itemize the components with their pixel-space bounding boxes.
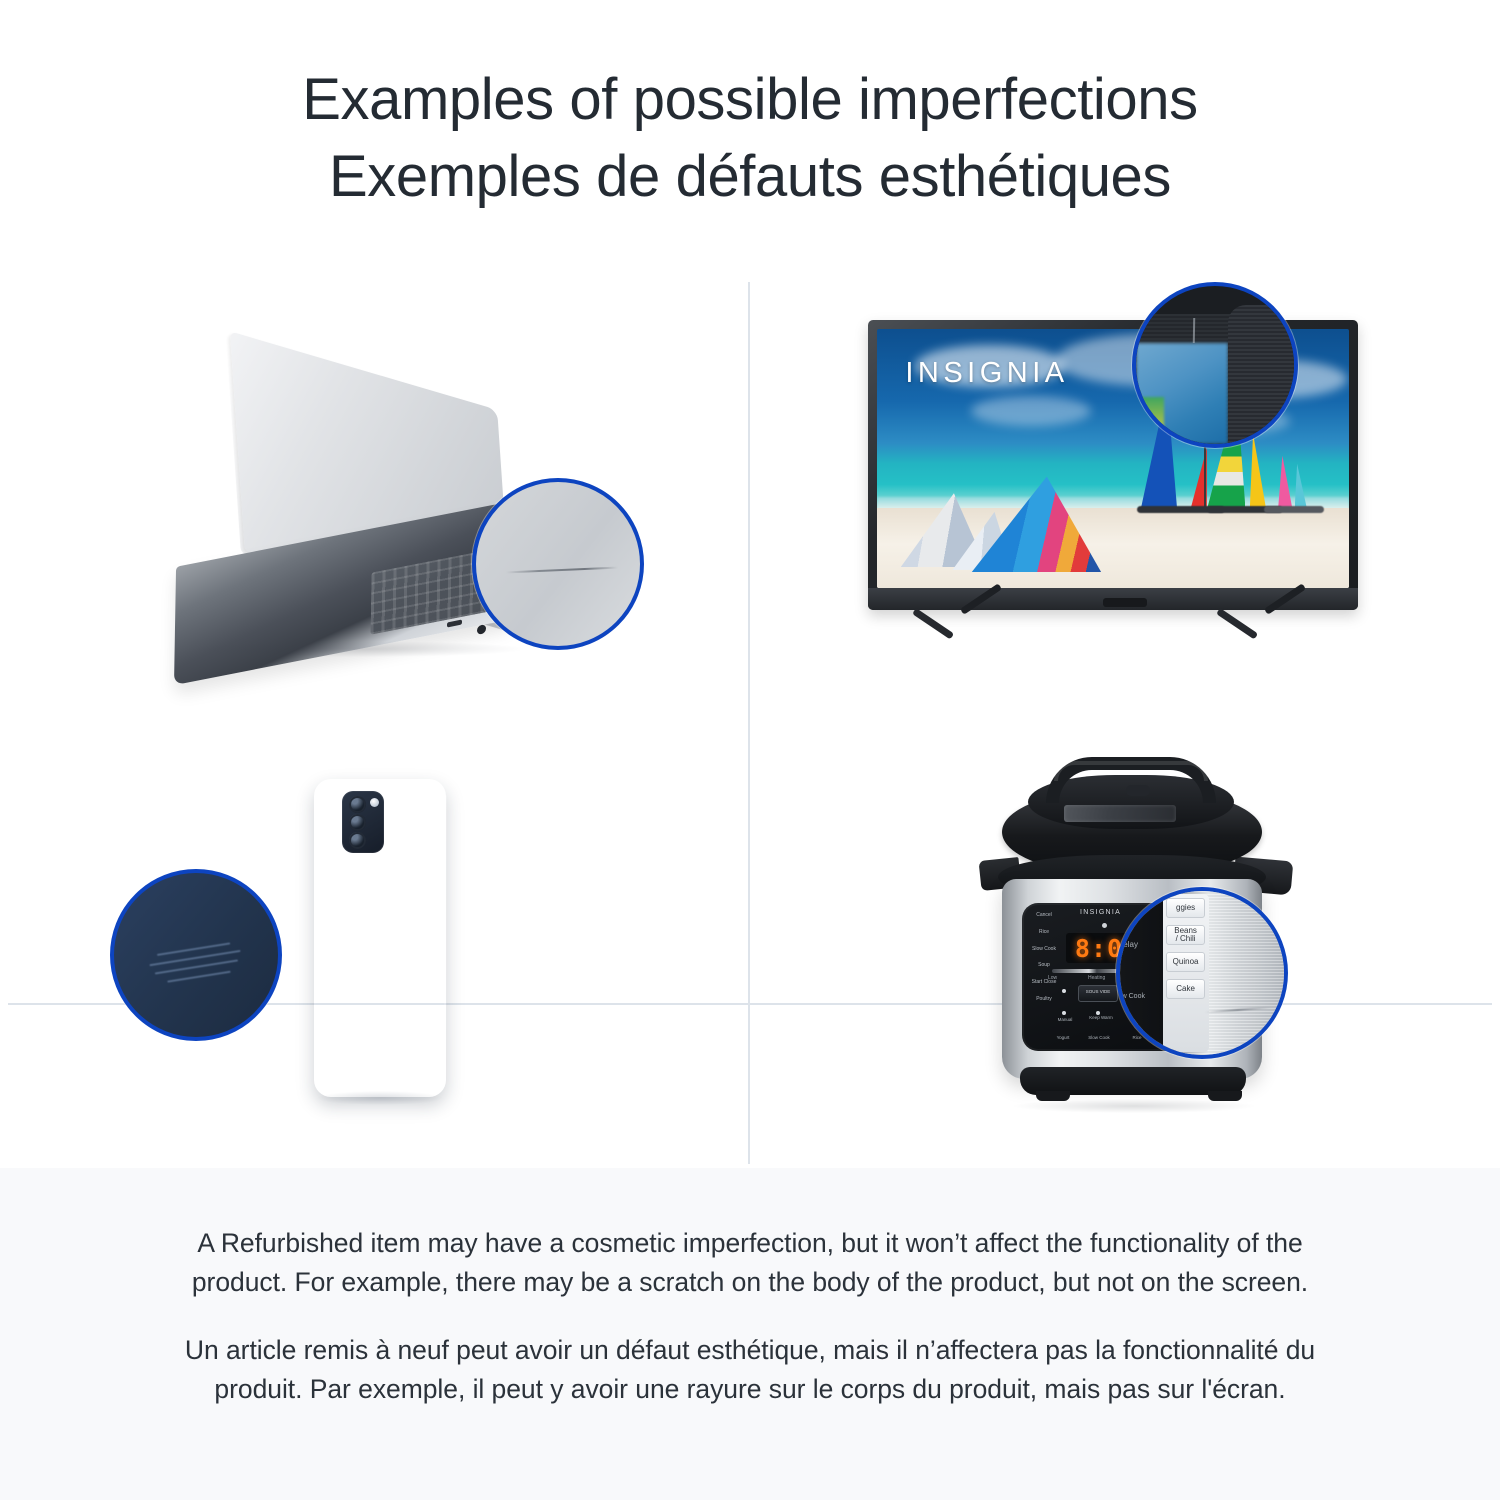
cooker-indicator-dot — [1062, 1011, 1066, 1015]
cooker-button-manual[interactable]: Manual — [1050, 1017, 1080, 1022]
cooker-key-startclose[interactable]: Start Close — [1030, 980, 1058, 986]
tv-bezel-corner-magnified — [1228, 305, 1294, 444]
cloud-shape — [971, 396, 1091, 426]
title-french: Exemples de défauts esthétiques — [0, 139, 1500, 216]
cooker-brand-text: INSIGNIA — [1080, 909, 1121, 916]
cooker-mag-button-strip: ggies Beans/ Chili Quinoa Cake — [1163, 894, 1209, 1051]
cooker-center-button[interactable]: SOUS VIDE — [1078, 985, 1118, 1002]
footer-paragraph-english: A Refurbished item may have a cosmetic i… — [180, 1224, 1320, 1301]
phone-side-highlight — [444, 795, 447, 1077]
tv-screen-brand-text: INSIGNIA — [905, 357, 1068, 390]
phone-graphic — [296, 779, 466, 1109]
camera-lens-icon — [349, 814, 366, 831]
tv-scratch-mark — [1193, 318, 1195, 343]
tv-ir-receiver-icon — [1103, 598, 1147, 607]
camera-lens-icon — [349, 796, 366, 813]
title-english: Examples of possible imperfections — [0, 62, 1500, 139]
cell-laptop — [0, 278, 748, 725]
cooker-key-rice[interactable]: Rice — [1030, 930, 1058, 936]
camera-lens-icon — [349, 832, 366, 849]
phone-illustration — [0, 727, 748, 1168]
cooker-handle-highlight — [1054, 761, 1208, 781]
cooker-button-slowcook[interactable]: Slow Cook — [1084, 1035, 1114, 1040]
cooker-status-led-icon — [1102, 923, 1107, 928]
cooker-button-yogurt[interactable]: Yogurt — [1048, 1035, 1078, 1040]
sailboat-pink-sail — [1278, 456, 1292, 508]
cooker-mag-button-beans[interactable]: Beans/ Chili — [1166, 925, 1205, 945]
tv-picture-magnified-sail — [1136, 397, 1164, 444]
cell-pressure-cooker: INSIGNIA 8:00 Low Heating Warm SOUS VIDE — [750, 727, 1500, 1168]
phone-back-panel — [314, 779, 446, 1097]
laptop-illustration — [0, 278, 748, 725]
camera-flash-icon — [370, 798, 379, 807]
cooker-mag-label-delay: elay — [1123, 940, 1138, 949]
cooker-indicator-dot — [1062, 989, 1066, 993]
tv-leg-left — [916, 608, 1000, 660]
cooker-mag-button-veggies[interactable]: ggies — [1166, 898, 1205, 918]
cooker-mag-button-cake[interactable]: Cake — [1166, 979, 1205, 999]
cooker-illustration: INSIGNIA 8:00 Low Heating Warm SOUS VIDE — [750, 727, 1500, 1168]
cooker-bar-label-mid: Heating — [1088, 975, 1105, 981]
cell-television: INSIGNIA — [750, 278, 1500, 725]
cooker-mag-label-slowcook: w Cook — [1122, 993, 1145, 1000]
scuff-line — [167, 971, 231, 983]
cooker-lid-label — [1064, 805, 1176, 822]
cooker-left-key-column: Cancel Rice Slow Cook Soup Start Close P… — [1030, 913, 1058, 1014]
laptop-scratch-mark — [506, 566, 617, 573]
magnifier-circle-laptop — [472, 478, 644, 650]
cell-smartphone — [0, 727, 748, 1168]
laptop-shadow — [193, 641, 523, 657]
magnifier-circle-cooker: elay w Cook ggies Beans/ Chili Quinoa Ca… — [1116, 887, 1288, 1059]
sailboat-teal-sail — [1295, 464, 1307, 508]
phone-camera-module — [342, 791, 384, 853]
page-title: Examples of possible imperfections Exemp… — [0, 62, 1500, 215]
cooker-key-poultry[interactable]: Poultry — [1030, 997, 1058, 1003]
tv-leg-right — [1220, 608, 1304, 660]
tv-illustration: INSIGNIA — [750, 278, 1500, 725]
cooker-key-cancel[interactable]: Cancel — [1030, 913, 1058, 919]
cooker-mag-button-quinoa[interactable]: Quinoa — [1166, 952, 1205, 972]
cooker-button-keepwarm[interactable]: Keep Warm — [1086, 1015, 1116, 1020]
footer-paragraph-french: Un article remis à neuf peut avoir un dé… — [180, 1331, 1320, 1408]
sailboat-yellow-sail — [1250, 434, 1266, 508]
phone-scuff-marks — [148, 941, 244, 988]
refurbished-imperfections-infographic: Examples of possible imperfections Exemp… — [0, 0, 1500, 1500]
magnifier-circle-tv — [1132, 282, 1298, 448]
footer-description: A Refurbished item may have a cosmetic i… — [0, 1168, 1500, 1500]
phone-shadow — [318, 1091, 442, 1105]
cooker-key-slowcook[interactable]: Slow Cook — [1030, 947, 1058, 953]
magnifier-circle-phone — [110, 869, 282, 1041]
sailboat-hull — [1264, 506, 1324, 513]
laptop-audio-jack-icon — [477, 624, 486, 635]
product-image-grid: INSIGNIA — [0, 278, 1500, 1168]
cooker-key-soup[interactable]: Soup — [1030, 963, 1058, 969]
cooker-shadow — [1014, 1099, 1254, 1113]
